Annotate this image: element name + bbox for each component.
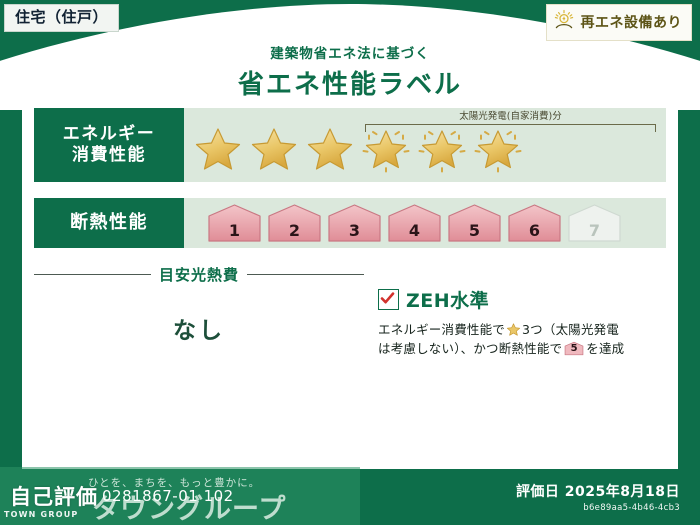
page-title: 省エネ性能ラベル <box>0 64 700 101</box>
insulation-level-badge: 3 <box>326 202 383 244</box>
insulation-level-list: 1 2 3 <box>184 202 623 244</box>
star-solar <box>360 123 412 175</box>
divider-right <box>247 274 364 275</box>
insulation-level-number: 2 <box>266 221 323 240</box>
insulation-level-badge: 4 <box>386 202 443 244</box>
energy-label-line2: 消費性能 <box>72 145 146 166</box>
insulation-level-badge: 1 <box>206 202 263 244</box>
insulation-level-number: 4 <box>386 221 443 240</box>
zeh-desc-part3: を達成 <box>586 341 624 356</box>
title-block: 建築物省エネ法に基づく 省エネ性能ラベル <box>0 42 700 101</box>
insulation-level-number: 7 <box>566 221 623 240</box>
solar-caption: 太陽光発電(自家消費)分 <box>365 112 656 122</box>
town-group-logo-text: TOWN GROUP <box>4 510 78 519</box>
insulation-level-number: 6 <box>506 221 563 240</box>
zeh-desc-part1: エネルギー消費性能で <box>378 322 505 337</box>
star-filled <box>248 123 300 175</box>
insulation-performance-label: 断熱性能 <box>34 198 184 248</box>
star-filled <box>304 123 356 175</box>
energy-performance-row: エネルギー 消費性能 太陽光発電(自家消費)分 <box>34 108 666 182</box>
evaluation-info: 評価日 2025年8月18日 b6e89aa5-4b46-4cb3 <box>516 481 680 513</box>
insulation-level-badge-inactive: 7 <box>566 202 623 244</box>
star-solar <box>416 123 468 175</box>
self-evaluation-label: 自己評価 <box>10 481 98 511</box>
town-group-logo: TOWN GROUP <box>4 510 78 519</box>
renewable-energy-badge: 再エネ設備あり <box>546 4 693 41</box>
divider-left <box>34 274 151 275</box>
energy-performance-label: エネルギー 消費性能 <box>34 108 184 182</box>
inline-insulation-badge: 5 <box>564 341 584 356</box>
evaluation-date: 評価日 2025年8月18日 <box>516 481 680 501</box>
inline-star-icon <box>506 322 521 337</box>
utility-cost-title: 目安光熱費 <box>159 264 239 285</box>
title-subtitle: 建築物省エネ法に基づく <box>0 42 700 62</box>
insulation-level-number: 3 <box>326 221 383 240</box>
evaluation-hash: b6e89aa5-4b46-4cb3 <box>516 503 680 513</box>
zeh-desc-stars: 3つ（太陽光発電 <box>522 322 619 337</box>
zeh-title: ZEH水準 <box>406 286 489 313</box>
zeh-header: ZEH水準 <box>378 286 666 313</box>
utility-cost-header: 目安光熱費 <box>34 264 364 285</box>
utility-cost-block: 目安光熱費 なし <box>34 264 364 384</box>
label-card: エネルギー 消費性能 太陽光発電(自家消費)分 <box>22 94 678 463</box>
renewable-energy-label: 再エネ設備あり <box>581 12 683 32</box>
zeh-description: エネルギー消費性能で3つ（太陽光発電 は考慮しない）、かつ断熱性能で5を達成 <box>378 320 666 359</box>
insulation-badges-body: 1 2 3 <box>184 198 666 248</box>
house-type-badge: 住宅（住戸） <box>4 4 119 32</box>
insulation-level-badge: 6 <box>506 202 563 244</box>
insulation-level-badge: 5 <box>446 202 503 244</box>
energy-label-root: 住宅（住戸） 再エネ設備あり 建築物省エネ法に基づく 省エネ性 <box>0 0 700 525</box>
checkbox-checked-icon <box>378 289 399 310</box>
zeh-desc-part2: は考慮しない）、かつ断熱性能で <box>378 341 562 356</box>
utility-cost-value: なし <box>34 311 364 345</box>
self-evaluation-stamp: 自己評価 0281867-01 102 <box>10 481 234 511</box>
star-filled <box>192 123 244 175</box>
footer: ひとを、まちを、もっと豊かに。 タウングループ TOWN GROUP 自己評価 … <box>0 463 700 525</box>
sun-icon <box>553 9 575 35</box>
inline-badge-number: 5 <box>564 341 584 357</box>
insulation-level-badge: 2 <box>266 202 323 244</box>
zeh-block: ZEH水準 エネルギー消費性能で3つ（太陽光発電 は考慮しない）、かつ断熱性能で… <box>364 264 666 384</box>
energy-label-line1: エネルギー <box>63 124 156 145</box>
star-solar <box>472 123 524 175</box>
insulation-performance-row: 断熱性能 1 <box>34 198 666 248</box>
lower-section: 目安光熱費 なし ZEH水準 エネルギー消費性能で3つ（太陽光発電 は考慮 <box>34 264 666 384</box>
self-evaluation-code: 0281867-01 102 <box>102 487 234 505</box>
star-rating <box>184 123 524 175</box>
insulation-level-number: 5 <box>446 221 503 240</box>
energy-stars-body: 太陽光発電(自家消費)分 <box>184 108 666 182</box>
insulation-level-number: 1 <box>206 221 263 240</box>
